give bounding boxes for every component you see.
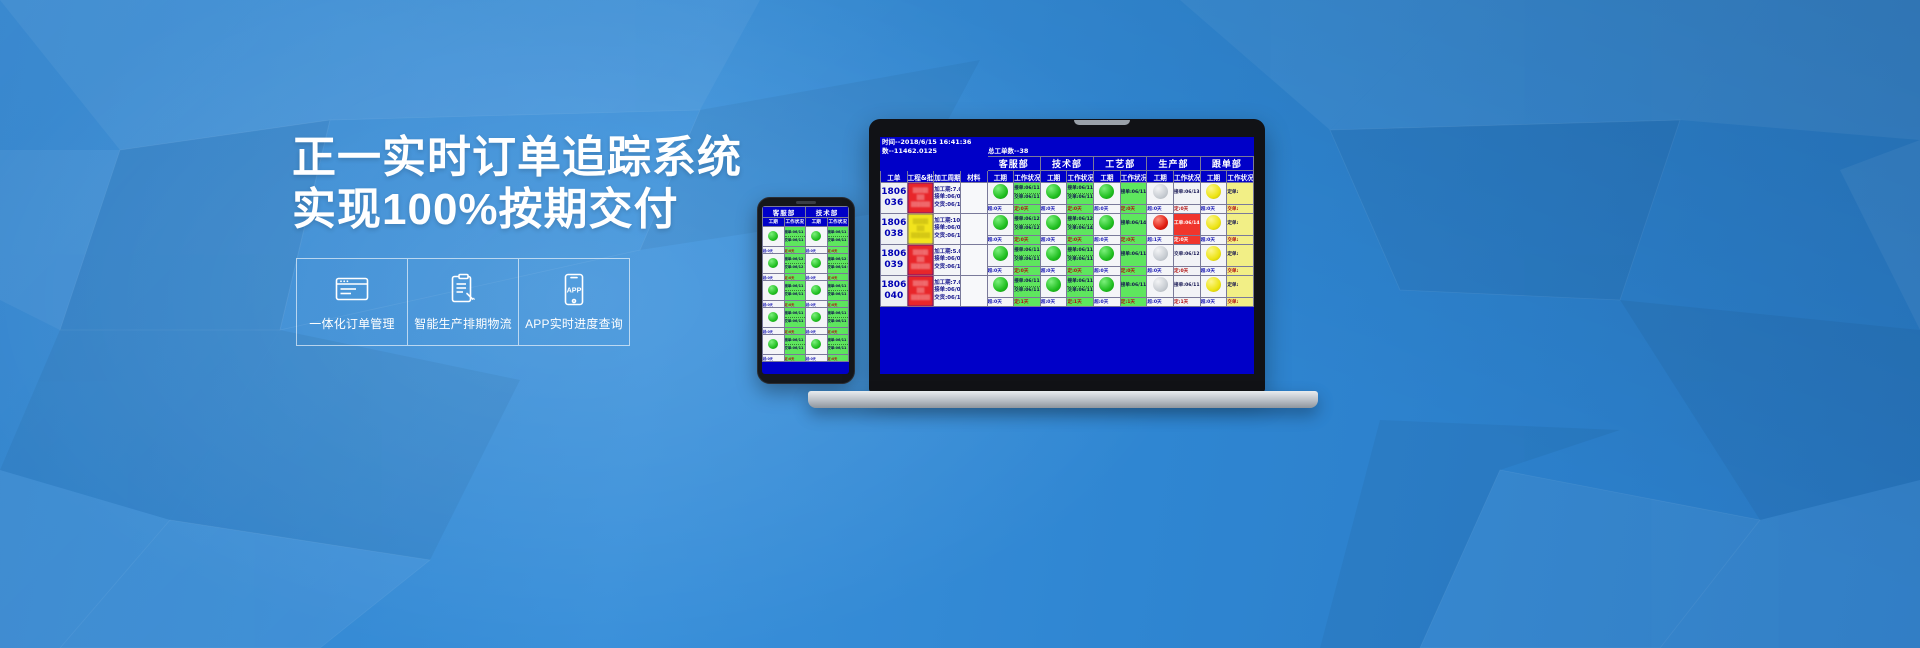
erp-cell-workorder[interactable]: 1806036	[881, 183, 908, 214]
erp-cell-project[interactable]: ▒▒▒▒▒▒▒▒▒▒▒	[907, 183, 934, 214]
erp-status-bar: 时间--2018/6/15 16:41:36 数--11462.0125 总工单…	[880, 137, 1254, 156]
erp-status-count: 数--11462.0125	[882, 147, 988, 156]
erp-department-技术部[interactable]: 技术部	[1040, 157, 1093, 171]
phone-department-客服部[interactable]: 客服部	[763, 207, 806, 218]
laptop-mockup: 时间--2018/6/15 16:41:36 数--11462.0125 总工单…	[861, 119, 1313, 419]
phone-table-subrow: 超:0天定:0天超:0天定:0天	[763, 274, 849, 281]
phone-cell-term-right[interactable]	[806, 281, 828, 301]
erp-cell-status-技术部[interactable]: 接单:06/12 20交单:06/14 04	[1067, 214, 1094, 236]
status-dot-green	[768, 285, 778, 295]
phone-cell-term-right[interactable]	[806, 227, 828, 247]
erp-subcell-set-工艺部: 定:0天	[1120, 267, 1147, 276]
status-dot-gray	[1153, 277, 1168, 292]
status-dot-red	[1153, 215, 1168, 230]
erp-cell-workorder[interactable]: 1806039	[881, 245, 908, 276]
phone-subcell-set-right: 定:0天	[827, 301, 849, 308]
erp-header-blank	[881, 157, 988, 171]
phone-subcell-over-left: 超:0天	[763, 355, 785, 362]
erp-cell-term-跟单部[interactable]	[1200, 214, 1227, 236]
status-dot-green	[993, 277, 1008, 292]
phone-cell-term-right[interactable]	[806, 335, 828, 355]
erp-subcell-set-跟单部: 交单:	[1227, 298, 1254, 307]
phone-table-subrow: 超:0天定:0天超:0天定:0天	[763, 247, 849, 254]
status-dot-green	[1099, 215, 1114, 230]
phone-mockup: 客服部技术部工期工作状况工期工作状况接单:06/11 17交单:06/11 17…	[757, 197, 855, 384]
erp-cell-workorder[interactable]: 1806038	[881, 214, 908, 245]
phone-col-工期[interactable]: 工期	[806, 218, 828, 227]
phone-cell-term-left[interactable]	[763, 281, 785, 301]
phone-cell-term-left[interactable]	[763, 335, 785, 355]
erp-status-time: 时间--2018/6/15 16:41:36	[882, 138, 988, 147]
erp-cell-material[interactable]	[960, 183, 987, 214]
phone-subcell-over-right: 超:0天	[806, 274, 828, 281]
phone-cell-status-right[interactable]: 接单:06/11 17交单:06/11 17	[827, 308, 849, 328]
phone-department-技术部[interactable]: 技术部	[806, 207, 849, 218]
erp-cell-status-工艺部[interactable]: 接单:06/14 04	[1120, 214, 1147, 236]
erp-subcell-set-客服部: 定:0天	[1014, 205, 1041, 214]
erp-cell-status-工艺部[interactable]: 接单:06/11 17	[1120, 183, 1147, 205]
erp-cell-term-生产部[interactable]	[1147, 183, 1174, 205]
status-dot-green	[1046, 184, 1061, 199]
phone-column-header: 工期工作状况工期工作状况	[763, 218, 849, 227]
phone-subcell-over-left: 超:0天	[763, 274, 785, 281]
erp-cell-term-工艺部[interactable]	[1094, 276, 1121, 298]
erp-cell-status-客服部[interactable]: 接单:06/11 17交单:06/11 17	[1014, 276, 1041, 298]
erp-subcell-set-技术部: 定:1天	[1067, 298, 1094, 307]
erp-cell-status-跟单部[interactable]: 定单:	[1227, 245, 1254, 267]
erp-cell-term-技术部[interactable]	[1040, 183, 1067, 205]
phone-speaker	[796, 201, 816, 204]
erp-cell-term-工艺部[interactable]	[1094, 214, 1121, 236]
phone-subcell-set-left: 定:0天	[784, 355, 806, 362]
erp-cell-project[interactable]: ▒▒▒▒▒▒▒▒▒▒▒	[907, 214, 934, 245]
phone-cell-status-right[interactable]: 接单:06/11 17交单:06/11 17	[827, 281, 849, 301]
erp-cell-status-技术部[interactable]: 接单:06/11 17交单:06/11 17	[1067, 245, 1094, 267]
erp-grid[interactable]: 客服部技术部工艺部生产部跟单部工单工程&批次加工周期材料工期工作状况工期工作状况…	[880, 156, 1254, 307]
erp-cell-term-跟单部[interactable]	[1200, 183, 1227, 205]
phone-table-row[interactable]: 接单:06/11 17交单:06/11 17接单:06/11 17交单:06/1…	[763, 308, 849, 328]
feature-item-app-progress[interactable]: APP APP实时进度查询	[519, 259, 629, 345]
feature-list: 一体化订单管理 智能生产排期物流	[296, 258, 630, 346]
erp-col-加工周期[interactable]: 加工周期	[934, 171, 961, 183]
status-dot-green	[768, 339, 778, 349]
erp-subcell-set-工艺部: 定:1天	[1120, 298, 1147, 307]
svg-text:APP: APP	[567, 285, 582, 294]
erp-cell-cycle[interactable]: 加工期:10.0天接单:06/07 00交货:06/17 00	[934, 214, 961, 245]
status-dot-gray	[1153, 246, 1168, 261]
phone-subcell-over-left: 超:0天	[763, 301, 785, 308]
erp-cell-term-跟单部[interactable]	[1200, 245, 1227, 267]
status-dot-yellow	[1206, 215, 1221, 230]
erp-department-header: 客服部技术部工艺部生产部跟单部	[881, 157, 1254, 171]
laptop-camera-notch	[1074, 120, 1130, 125]
laptop-base	[808, 391, 1318, 408]
status-dot-green	[993, 184, 1008, 199]
status-dot-green	[1099, 277, 1114, 292]
table-row[interactable]: 1806039▒▒▒▒▒▒▒▒▒▒▒加工期:5.0天接单:06/09 00交货:…	[881, 245, 1254, 267]
erp-cell-project[interactable]: ▒▒▒▒▒▒▒▒▒▒▒	[907, 245, 934, 276]
erp-cell-term-工艺部[interactable]	[1094, 183, 1121, 205]
erp-col-跟单部-工作状况[interactable]: 工作状况	[1227, 171, 1254, 183]
erp-cell-status-客服部[interactable]: 接单:06/11 17交单:06/11 17	[1014, 245, 1041, 267]
erp-cell-status-技术部[interactable]: 接单:06/11 17交单:06/11 17	[1067, 183, 1094, 205]
erp-department-客服部[interactable]: 客服部	[987, 157, 1040, 171]
headline-line-2: 实现100%按期交付	[292, 184, 722, 236]
phone-subcell-set-right: 定:0天	[827, 355, 849, 362]
table-row[interactable]: 1806036▒▒▒▒▒▒▒▒▒▒▒加工期:7.0天接单:06/07 00交货:…	[881, 183, 1254, 205]
erp-cell-material[interactable]	[960, 214, 987, 245]
erp-cell-term-客服部[interactable]	[987, 276, 1014, 298]
erp-subcell-set-跟单部: 交单:	[1227, 205, 1254, 214]
erp-department-工艺部[interactable]: 工艺部	[1094, 157, 1147, 171]
erp-subcell-over-客服部: 超:0天	[987, 298, 1014, 307]
erp-cell-term-技术部[interactable]	[1040, 245, 1067, 267]
status-dot-gray	[1153, 184, 1168, 199]
status-dot-green	[811, 258, 821, 268]
erp-subcell-over-工艺部: 超:0天	[1094, 267, 1121, 276]
erp-subcell-set-技术部: 定:0天	[1067, 205, 1094, 214]
phone-cell-term-left[interactable]	[763, 254, 785, 274]
erp-subcell-set-客服部: 定:0天	[1014, 236, 1041, 245]
erp-subcell-over-跟单部: 超:0天	[1200, 298, 1227, 307]
phone-subcell-over-right: 超:0天	[806, 301, 828, 308]
erp-cell-cycle[interactable]: 加工期:5.0天接单:06/09 00交货:06/14 00	[934, 245, 961, 276]
table-row[interactable]: 1806040▒▒▒▒▒▒▒▒▒▒▒加工期:7.0天接单:06/08 00交货:…	[881, 276, 1254, 298]
erp-subcell-over-工艺部: 超:0天	[1094, 236, 1121, 245]
phone-table-row[interactable]: 接单:06/11 17交单:06/11 17接单:06/11 17交单:06/1…	[763, 227, 849, 247]
erp-subcell-set-生产部: 定:0天	[1174, 205, 1201, 214]
status-dot-green	[811, 231, 821, 241]
phone-cell-status-left[interactable]: 接单:06/11 17交单:06/11 17	[784, 308, 806, 328]
erp-subcell-over-生产部: 超:0天	[1147, 205, 1174, 214]
laptop-lid: 时间--2018/6/15 16:41:36 数--11462.0125 总工单…	[869, 119, 1265, 392]
erp-subcell-over-工艺部: 超:0天	[1094, 205, 1121, 214]
status-dot-yellow	[1206, 277, 1221, 292]
erp-subcell-over-技术部: 超:0天	[1040, 298, 1067, 307]
erp-cell-term-客服部[interactable]	[987, 214, 1014, 236]
erp-column-header: 工单工程&批次加工周期材料工期工作状况工期工作状况工期工作状况工期工作状况工期工…	[881, 171, 1254, 183]
phone-table-subrow: 超:0天定:0天超:0天定:0天	[763, 355, 849, 362]
status-dot-green	[811, 312, 821, 322]
status-dot-green	[811, 339, 821, 349]
erp-cell-status-跟单部[interactable]: 定单:	[1227, 276, 1254, 298]
phone-subcell-over-left: 超:0天	[763, 247, 785, 254]
status-dot-green	[768, 231, 778, 241]
feature-item-order-management[interactable]: 一体化订单管理	[297, 259, 408, 345]
erp-subcell-over-客服部: 超:0天	[987, 205, 1014, 214]
erp-subcell-over-生产部: 超:0天	[1147, 298, 1174, 307]
status-dot-green	[768, 258, 778, 268]
phone-screen[interactable]: 客服部技术部工期工作状况工期工作状况接单:06/11 17交单:06/11 17…	[762, 206, 849, 374]
phone-cell-status-left[interactable]: 接单:06/11 17交单:06/11 17	[784, 281, 806, 301]
phone-subcell-set-right: 定:0天	[827, 274, 849, 281]
erp-subcell-over-客服部: 超:0天	[987, 267, 1014, 276]
phone-subcell-over-right: 超:0天	[806, 328, 828, 335]
laptop-screen[interactable]: 时间--2018/6/15 16:41:36 数--11462.0125 总工单…	[880, 137, 1254, 374]
erp-subcell-set-工艺部: 定:0天	[1120, 205, 1147, 214]
erp-cell-material[interactable]	[960, 245, 987, 276]
erp-subcell-set-生产部: 定:0天	[1174, 267, 1201, 276]
phone-cell-status-left[interactable]: 接单:06/11 17交单:06/11 17	[784, 227, 806, 247]
erp-cell-status-跟单部[interactable]: 定单:	[1227, 214, 1254, 236]
erp-cell-cycle[interactable]: 加工期:7.0天接单:06/07 00交货:06/14 00	[934, 183, 961, 214]
phone-cell-status-right[interactable]: 接单:06/11 17交单:06/11 17	[827, 335, 849, 355]
erp-col-技术部-工作状况[interactable]: 工作状况	[1067, 171, 1094, 183]
phone-cell-term-right[interactable]	[806, 308, 828, 328]
erp-subcell-over-跟单部: 超:0天	[1200, 267, 1227, 276]
erp-subcell-set-客服部: 定:1天	[1014, 298, 1041, 307]
erp-subcell-set-生产部: 定:1天	[1174, 298, 1201, 307]
erp-col-生产部-工期[interactable]: 工期	[1147, 171, 1174, 183]
phone-cell-status-left[interactable]: 接单:06/11 17交单:06/11 17	[784, 335, 806, 355]
erp-department-生产部[interactable]: 生产部	[1147, 157, 1200, 171]
erp-cell-term-技术部[interactable]	[1040, 214, 1067, 236]
erp-col-跟单部-工期[interactable]: 工期	[1200, 171, 1227, 183]
phone-cell-term-left[interactable]	[763, 227, 785, 247]
clipboard-schedule-icon	[450, 272, 477, 306]
erp-col-生产部-工作状况[interactable]: 工作状况	[1174, 171, 1201, 183]
erp-subcell-over-工艺部: 超:0天	[1094, 298, 1121, 307]
feature-item-production-schedule[interactable]: 智能生产排期物流	[408, 259, 519, 345]
erp-subcell-over-跟单部: 超:0天	[1200, 236, 1227, 245]
table-row[interactable]: 1806038▒▒▒▒▒▒▒▒▒▒▒加工期:10.0天接单:06/07 00交货…	[881, 214, 1254, 236]
erp-subcell-over-技术部: 超:0天	[1040, 205, 1067, 214]
status-dot-green	[811, 285, 821, 295]
erp-subcell-over-技术部: 超:0天	[1040, 236, 1067, 245]
phone-subcell-set-right: 定:0天	[827, 247, 849, 254]
erp-cell-term-客服部[interactable]	[987, 245, 1014, 267]
erp-cell-status-跟单部[interactable]: 定单:	[1227, 183, 1254, 205]
erp-cell-term-客服部[interactable]	[987, 183, 1014, 205]
erp-col-客服部-工作状况[interactable]: 工作状况	[1014, 171, 1041, 183]
erp-department-跟单部[interactable]: 跟单部	[1200, 157, 1253, 171]
promo-banner: 正一实时订单追踪系统 实现100%按期交付 一体化订单管理	[0, 0, 1920, 648]
erp-col-材料[interactable]: 材料	[960, 171, 987, 183]
phone-cell-status-left[interactable]: 接单:06/12 20交单:06/12 20	[784, 254, 806, 274]
erp-subcell-set-生产部: 定:0天	[1174, 236, 1201, 245]
status-dot-green	[993, 215, 1008, 230]
feature-label: APP实时进度查询	[525, 315, 623, 332]
erp-cell-status-生产部[interactable]: 接单:06/11 17	[1174, 276, 1201, 298]
phone-subcell-set-left: 定:0天	[784, 301, 806, 308]
erp-cell-term-工艺部[interactable]	[1094, 245, 1121, 267]
erp-cell-workorder[interactable]: 1806040	[881, 276, 908, 307]
erp-cell-term-生产部[interactable]	[1147, 214, 1174, 236]
phone-table-row[interactable]: 接单:06/11 17交单:06/11 17接单:06/11 17交单:06/1…	[763, 335, 849, 355]
phone-subcell-over-left: 超:0天	[763, 328, 785, 335]
phone-col-工作状况[interactable]: 工作状况	[784, 218, 806, 227]
erp-subcell-set-工艺部: 定:0天	[1120, 236, 1147, 245]
phone-cell-term-left[interactable]	[763, 308, 785, 328]
erp-cell-status-生产部[interactable]: 接单:06/13 10	[1174, 183, 1201, 205]
erp-cell-material[interactable]	[960, 276, 987, 307]
feature-label: 一体化订单管理	[309, 315, 394, 332]
erp-cell-term-生产部[interactable]	[1147, 245, 1174, 267]
erp-col-工艺部-工期[interactable]: 工期	[1094, 171, 1121, 183]
erp-col-工程&批次[interactable]: 工程&批次	[907, 171, 934, 183]
erp-cell-status-技术部[interactable]: 接单:06/11 17交单:06/11 17	[1067, 276, 1094, 298]
erp-cell-status-生产部[interactable]: 交单:06/12 09	[1174, 245, 1201, 267]
erp-cell-status-生产部[interactable]: 工单:06/14 08	[1174, 214, 1201, 236]
erp-col-工艺部-工作状况[interactable]: 工作状况	[1120, 171, 1147, 183]
erp-subcell-set-技术部: 定:0天	[1067, 267, 1094, 276]
erp-cell-term-技术部[interactable]	[1040, 276, 1067, 298]
erp-subcell-over-生产部: 超:0天	[1147, 267, 1174, 276]
erp-subcell-over-客服部: 超:0天	[987, 236, 1014, 245]
erp-subcell-set-跟单部: 交单:	[1227, 267, 1254, 276]
phone-subcell-set-left: 定:0天	[784, 328, 806, 335]
erp-subcell-set-技术部: 定:0天	[1067, 236, 1094, 245]
status-dot-green	[993, 246, 1008, 261]
phone-app-icon: APP	[562, 272, 586, 306]
erp-cell-term-生产部[interactable]	[1147, 276, 1174, 298]
phone-subcell-set-left: 定:0天	[784, 247, 806, 254]
status-dot-green	[1099, 184, 1114, 199]
erp-subcell-over-生产部: 超:1天	[1147, 236, 1174, 245]
status-dot-yellow	[1206, 184, 1221, 199]
erp-subcell-over-跟单部: 超:0天	[1200, 205, 1227, 214]
phone-cell-status-right[interactable]: 接单:06/12 20交单:06/14 04	[827, 254, 849, 274]
phone-table-row[interactable]: 接单:06/11 17交单:06/11 17接单:06/11 17交单:06/1…	[763, 281, 849, 301]
phone-subcell-over-right: 超:0天	[806, 247, 828, 254]
erp-cell-status-工艺部[interactable]: 接单:06/11 17	[1120, 245, 1147, 267]
status-dot-green	[1046, 215, 1061, 230]
status-dot-green	[1099, 246, 1114, 261]
erp-col-工单[interactable]: 工单	[881, 171, 908, 183]
erp-cell-status-工艺部[interactable]: 接单:06/11 17	[1120, 276, 1147, 298]
phone-cell-term-right[interactable]	[806, 254, 828, 274]
erp-col-客服部-工期[interactable]: 工期	[987, 171, 1014, 183]
phone-cell-status-right[interactable]: 接单:06/11 17交单:06/11 17	[827, 227, 849, 247]
hero-copy: 正一实时订单追踪系统 实现100%按期交付	[292, 132, 722, 236]
status-dot-green	[768, 312, 778, 322]
erp-cell-term-跟单部[interactable]	[1200, 276, 1227, 298]
phone-department-header: 客服部技术部	[763, 207, 849, 218]
erp-cell-status-客服部[interactable]: 接单:06/11 17交单:06/11 17	[1014, 183, 1041, 205]
phone-subcell-over-right: 超:0天	[806, 355, 828, 362]
phone-col-工期[interactable]: 工期	[763, 218, 785, 227]
erp-cell-cycle[interactable]: 加工期:7.0天接单:06/08 00交货:06/15 00	[934, 276, 961, 307]
erp-cell-status-客服部[interactable]: 接单:06/12 20交单:06/12 20	[1014, 214, 1041, 236]
status-dot-yellow	[1206, 246, 1221, 261]
erp-status-total: 总工单数--38	[988, 147, 1028, 156]
phone-table-row[interactable]: 接单:06/12 20交单:06/12 20接单:06/12 20交单:06/1…	[763, 254, 849, 274]
phone-erp-table[interactable]: 客服部技术部工期工作状况工期工作状况接单:06/11 17交单:06/11 17…	[762, 206, 849, 374]
order-card-icon	[335, 272, 369, 306]
erp-col-技术部-工期[interactable]: 工期	[1040, 171, 1067, 183]
erp-subcell-set-客服部: 定:0天	[1014, 267, 1041, 276]
feature-label: 智能生产排期物流	[414, 315, 512, 332]
phone-table-subrow: 超:0天定:0天超:0天定:0天	[763, 301, 849, 308]
phone-subcell-set-right: 定:0天	[827, 328, 849, 335]
erp-subcell-set-跟单部: 交单:	[1227, 236, 1254, 245]
phone-col-工作状况[interactable]: 工作状况	[827, 218, 849, 227]
erp-subcell-over-技术部: 超:0天	[1040, 267, 1067, 276]
phone-table-subrow: 超:0天定:0天超:0天定:0天	[763, 328, 849, 335]
erp-cell-project[interactable]: ▒▒▒▒▒▒▒▒▒▒▒	[907, 276, 934, 307]
headline-line-1: 正一实时订单追踪系统	[292, 132, 722, 184]
status-dot-green	[1046, 246, 1061, 261]
status-dot-green	[1046, 277, 1061, 292]
phone-subcell-set-left: 定:0天	[784, 274, 806, 281]
erp-dashboard[interactable]: 时间--2018/6/15 16:41:36 数--11462.0125 总工单…	[880, 137, 1254, 374]
